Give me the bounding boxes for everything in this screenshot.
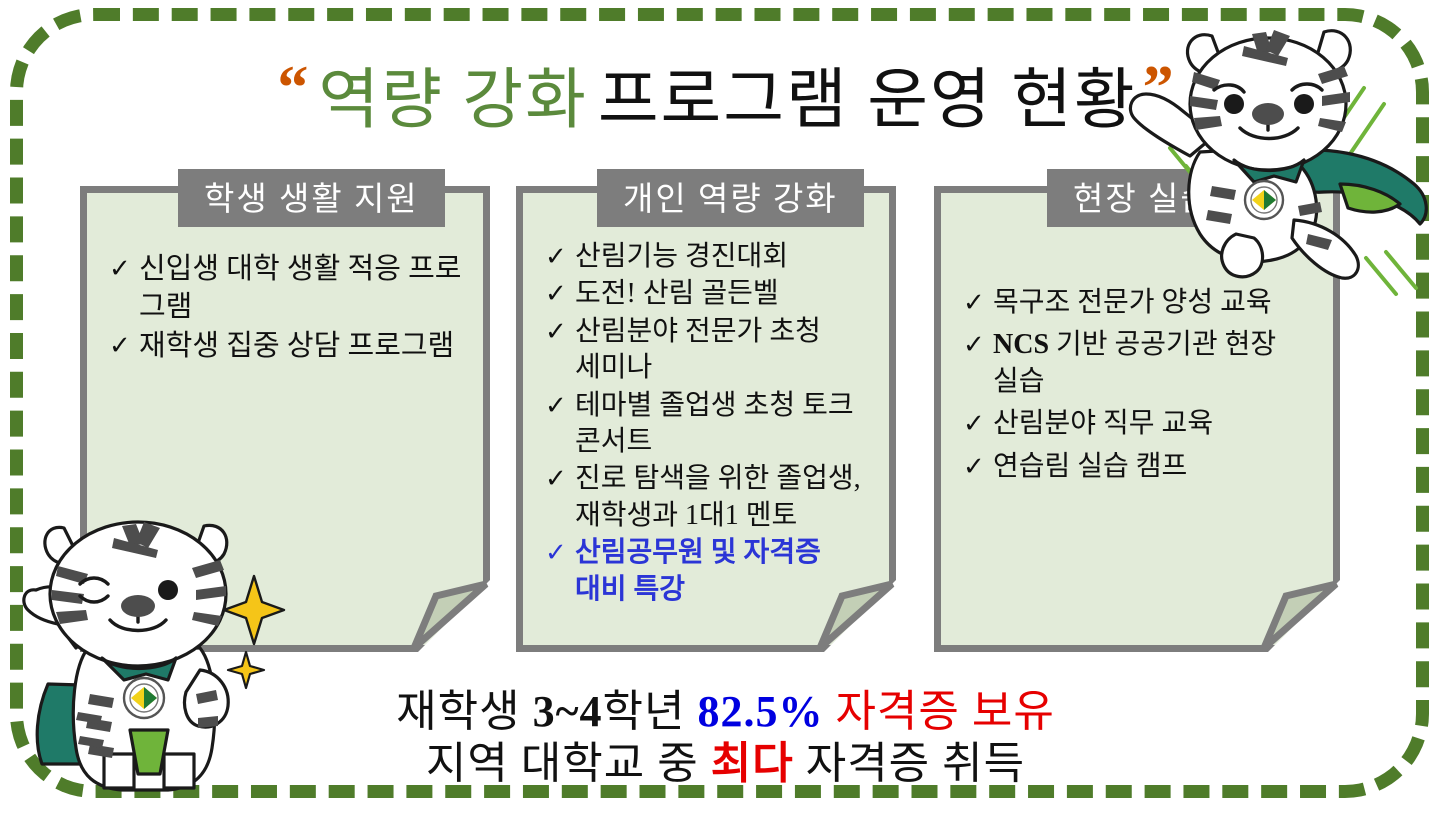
list-item-label: 목구조 전문가 양성 교육 (993, 285, 1321, 321)
card2-header: 개인 역량 강화 (597, 169, 864, 227)
summary-line1-grade: 3~4 (533, 687, 603, 736)
list-item-label: 산림기능 경진대회 (575, 239, 877, 275)
check-icon: ✓ (545, 239, 575, 274)
card-individual-competency: ✓ 산림기능 경진대회 ✓ 도전! 산림 골든벨 ✓ 산림분야 전문가 초청 세… (516, 186, 896, 652)
card-student-life-support: ✓ 신입생 대학 생활 적응 프로그램 ✓ 재학생 집중 상담 프로그램 (80, 186, 490, 652)
check-icon: ✓ (963, 449, 993, 484)
check-icon: ✓ (963, 406, 993, 441)
summary-line-2: 지역 대학교 중 최다 자격증 취득 (0, 738, 1451, 790)
summary-line1-suffix: 자격증 보유 (823, 687, 1054, 736)
list-item: ✓ 신입생 대학 생활 적응 프로그램 (109, 251, 471, 326)
summary-stat-percentage: 82.5% (697, 687, 823, 736)
check-icon: ✓ (545, 314, 575, 349)
card2-item-list: ✓ 산림기능 경진대회 ✓ 도전! 산림 골든벨 ✓ 산림분야 전문가 초청 세… (545, 239, 877, 609)
list-item-label: 재학생 집중 상담 프로그램 (139, 328, 471, 366)
check-icon: ✓ (545, 388, 575, 423)
list-item: ✓ 도전! 산림 골든벨 (545, 276, 877, 312)
list-item: ✓ 산림분야 직무 교육 (963, 406, 1321, 442)
list-item: ✓ 테마별 졸업생 초청 토크 콘서트 (545, 388, 877, 461)
list-item-label: 산림공무원 및 자격증 대비 특강 (575, 535, 877, 608)
card3-header: 현장 실습 (1047, 169, 1239, 227)
summary-line1-part1: 재학생 (396, 687, 532, 736)
check-icon: ✓ (109, 328, 139, 363)
list-item: ✓ 재학생 집중 상담 프로그램 (109, 328, 471, 366)
summary-line-1: 재학생 3~4학년 82.5% 자격증 보유 (0, 686, 1451, 738)
list-item-label: 도전! 산림 골든벨 (575, 276, 877, 312)
check-icon: ✓ (545, 276, 575, 311)
list-item: ✓ 진로 탐색을 위한 졸업생, 재학생과 1대1 멘토 (545, 461, 877, 534)
check-icon: ✓ (545, 461, 575, 496)
summary-line2-part1: 지역 대학교 중 (426, 739, 711, 788)
summary-emphasis: 최다 (711, 739, 794, 788)
card-corner-fold (378, 580, 490, 652)
list-item: ✓ 산림분야 전문가 초청 세미나 (545, 314, 877, 387)
list-item: ✓ 목구조 전문가 양성 교육 (963, 285, 1321, 321)
summary-line1-part3: 학년 (602, 687, 697, 736)
list-item-highlighted: ✓ 산림공무원 및 자격증 대비 특강 (545, 535, 877, 608)
check-icon: ✓ (963, 327, 993, 362)
list-item-label: 산림분야 전문가 초청 세미나 (575, 314, 877, 387)
card1-item-list: ✓ 신입생 대학 생활 적응 프로그램 ✓ 재학생 집중 상담 프로그램 (109, 251, 471, 368)
card3-item-list: ✓ 목구조 전문가 양성 교육 ✓ NCS 기반 공공기관 현장 실습 ✓ 산림… (963, 285, 1321, 491)
list-item: ✓ 연습림 실습 캠프 (963, 449, 1321, 485)
card1-header: 학생 생활 지원 (178, 169, 445, 227)
check-icon: ✓ (545, 535, 575, 570)
list-item-label: 연습림 실습 캠프 (993, 449, 1321, 485)
infographic-stage: “ 역량 강화 프로그램 운영 현황 ” ✓ 신입생 대학 생활 적응 프로그램… (0, 0, 1451, 814)
summary-line2-part2: 자격증 취득 (794, 739, 1025, 788)
summary-statements: 재학생 3~4학년 82.5% 자격증 보유 지역 대학교 중 최다 자격증 취… (0, 686, 1451, 790)
card-field-practice: ✓ 목구조 전문가 양성 교육 ✓ NCS 기반 공공기관 현장 실습 ✓ 산림… (934, 186, 1340, 652)
list-item-label: 테마별 졸업생 초청 토크 콘서트 (575, 388, 877, 461)
list-item-label: 진로 탐색을 위한 졸업생, 재학생과 1대1 멘토 (575, 461, 877, 534)
list-item: ✓ 산림기능 경진대회 (545, 239, 877, 275)
check-icon: ✓ (963, 285, 993, 320)
list-item-label: NCS 기반 공공기관 현장 실습 (993, 327, 1321, 400)
list-item-label: 산림분야 직무 교육 (993, 406, 1321, 442)
check-icon: ✓ (109, 251, 139, 286)
list-item: ✓ NCS 기반 공공기관 현장 실습 (963, 327, 1321, 400)
list-item-label: 신입생 대학 생활 적응 프로그램 (139, 251, 471, 326)
card-corner-fold (1228, 580, 1340, 652)
